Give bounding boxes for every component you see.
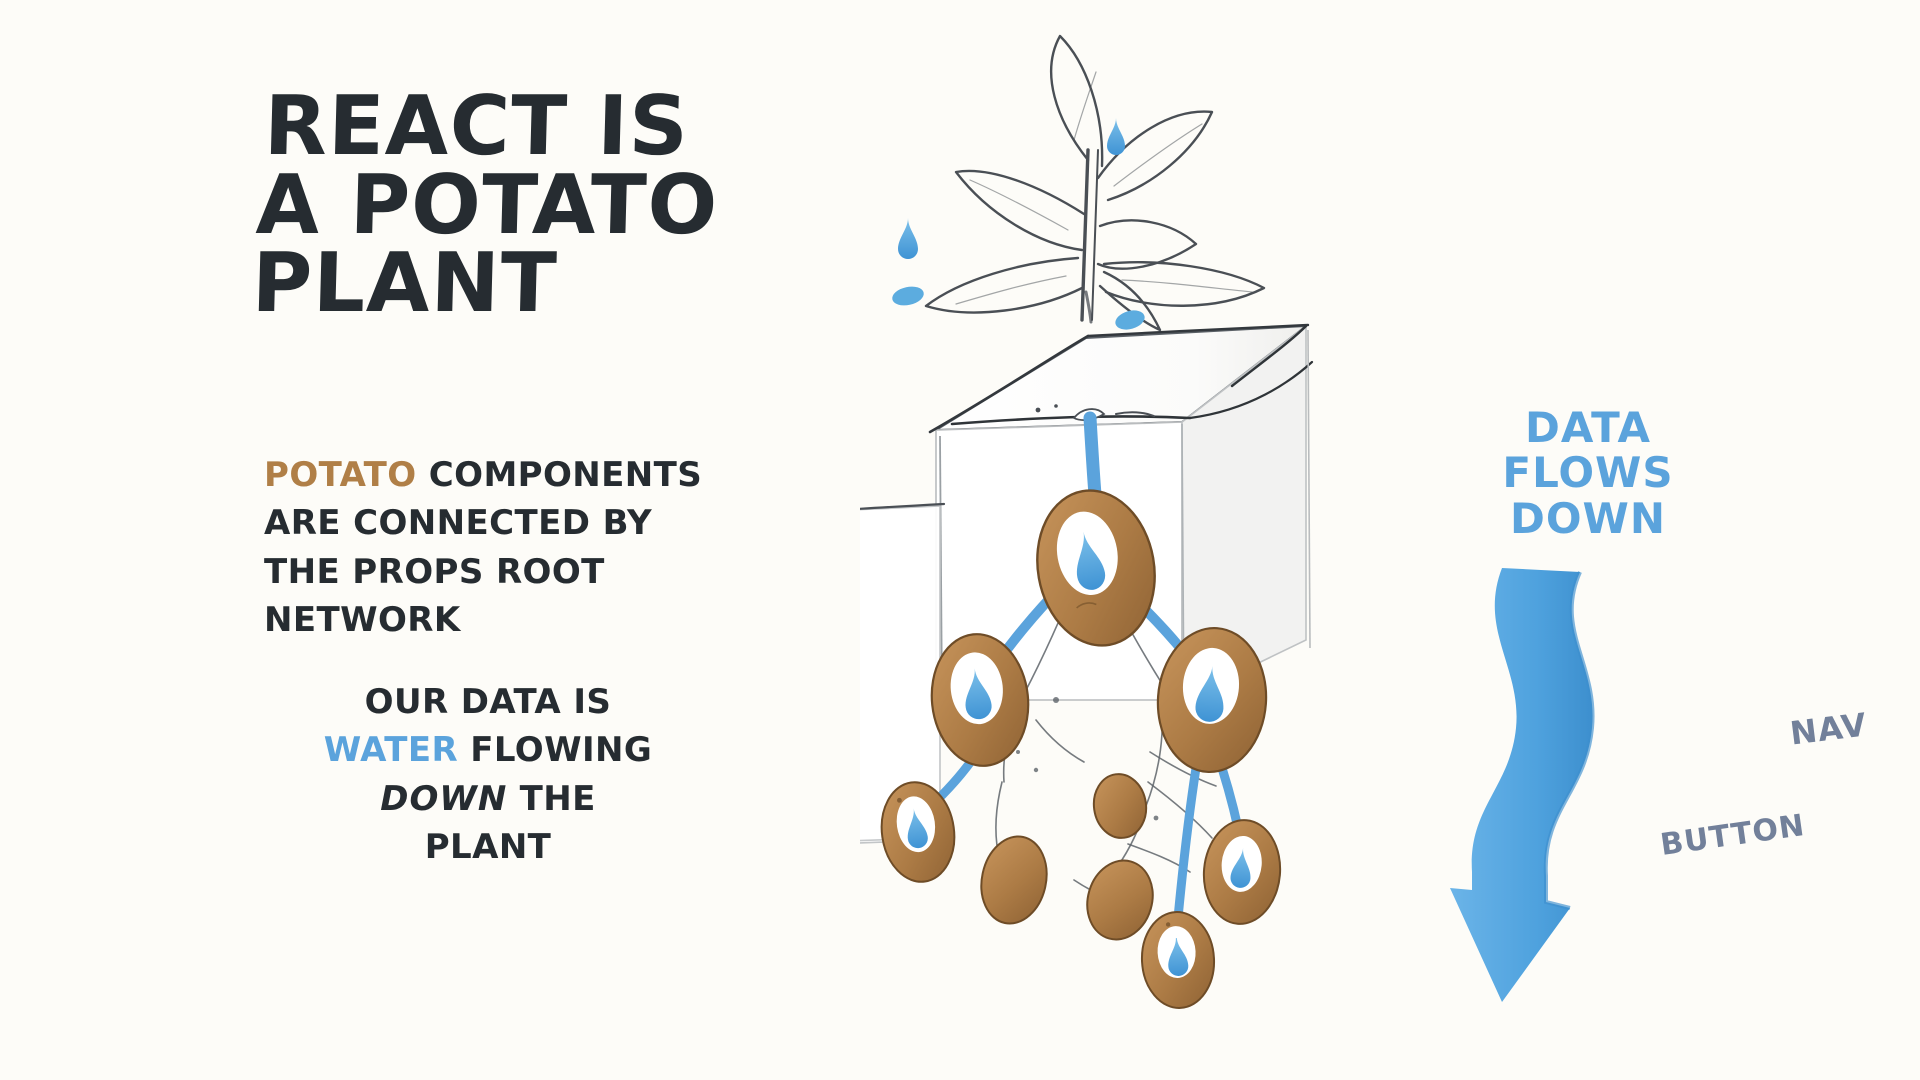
highlight-water: WATER [324, 730, 458, 770]
paragraph-props-line-2: ARE CONNECTED BY [264, 499, 824, 547]
potato-body [1090, 771, 1150, 842]
flow-line-3: DOWN [1478, 496, 1698, 541]
paragraph-props: POTATO COMPONENTS ARE CONNECTED BY THE P… [264, 451, 824, 644]
paragraph-data: OUR DATA IS WATER FLOWING DOWN THE PLANT [268, 678, 708, 871]
plant-water-droplets [890, 118, 1146, 333]
slide-canvas: REACT IS A POTATO PLANT POTATO COMPONENT… [0, 0, 1920, 1080]
paragraph-data-line-3-rest: THE [507, 779, 595, 819]
potato-p [1200, 817, 1285, 927]
potato-img [1140, 910, 1217, 1010]
title-line-3: PLANT [251, 245, 841, 324]
droplet-icon [1107, 118, 1125, 155]
highlight-down: DOWN [380, 779, 507, 819]
title-line-1: REACT IS [263, 88, 845, 167]
potato-body [974, 830, 1055, 929]
paragraph-data-line-2: WATER FLOWING [268, 726, 708, 774]
paragraph-props-line-3: THE PROPS ROOT [264, 548, 824, 596]
potato-plain-1 [974, 830, 1055, 929]
paragraph-data-line-3: DOWN THE [268, 775, 708, 823]
illustration-svg [860, 0, 1920, 1080]
highlight-potato: POTATO [264, 455, 417, 495]
arrow-shape [1450, 568, 1593, 1002]
potato-plant-illustration: APP NAV MAIN BUTTON P IMG [860, 0, 1920, 1080]
droplet-icon [898, 218, 918, 259]
droplet-icon [890, 284, 925, 308]
flow-line-1: DATA [1478, 405, 1698, 450]
title-line-2: A POTATO [255, 167, 843, 246]
flow-line-2: FLOWS [1478, 450, 1698, 495]
potato-plain-2 [1090, 771, 1150, 842]
plant-sketch [926, 36, 1264, 330]
droplet-icon [1113, 307, 1147, 333]
flow-annotation-text: DATA FLOWS DOWN [1478, 405, 1698, 541]
paragraph-data-line-1: OUR DATA IS [268, 678, 708, 726]
paragraph-props-line-1-rest: COMPONENTS [417, 455, 703, 495]
paragraph-props-line-4: NETWORK [264, 596, 824, 644]
paragraph-data-line-4: PLANT [268, 823, 708, 871]
text-column: REACT IS A POTATO PLANT POTATO COMPONENT… [262, 88, 842, 324]
data-flow-arrow [1450, 560, 1670, 1010]
page-title: REACT IS A POTATO PLANT [259, 88, 845, 324]
paragraph-props-line-1: POTATO COMPONENTS [264, 451, 824, 499]
paragraph-data-line-2-rest: FLOWING [458, 730, 652, 770]
